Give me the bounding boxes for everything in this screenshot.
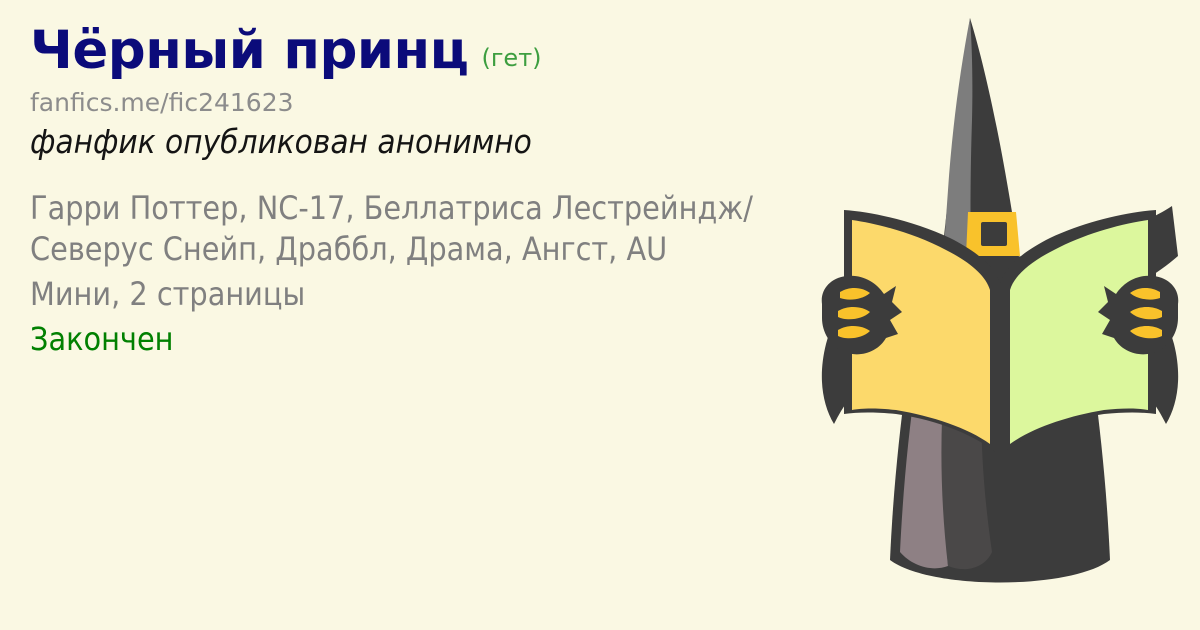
book-right-page-outline [1000, 210, 1156, 456]
left-hand-finger-3 [838, 326, 870, 338]
right-sleeve-group [1126, 268, 1178, 424]
fic-url[interactable]: fanfics.me/fic241623 [30, 89, 830, 117]
book-spine [997, 286, 1003, 460]
hat-brim-shape [844, 206, 1178, 314]
hat-cone-highlight [942, 18, 972, 282]
left-hand-finger-1 [840, 288, 870, 300]
page-title: Чёрный принц [30, 22, 468, 79]
open-book-group [844, 210, 1156, 460]
book-left-page-outline [844, 210, 1000, 456]
book-right-page [1010, 220, 1148, 444]
robe-body-group [890, 300, 1110, 583]
right-hand-finger-2 [1130, 307, 1162, 319]
genre-tag: (гет) [481, 46, 541, 70]
hat-brim-group [844, 206, 1178, 314]
title-row: Чёрный принц (гет) [30, 22, 830, 79]
fic-preview-card: Чёрный принц (гет) fanfics.me/fic241623 … [0, 0, 1200, 630]
wizard-reading-book-illustration [800, 0, 1200, 630]
book-left-page [852, 220, 990, 444]
right-sleeve-shape [1126, 268, 1178, 424]
right-hand-finger-1 [1130, 288, 1160, 300]
status-badge: Закончен [30, 319, 830, 360]
author-line: фанфик опубликован анонимно [30, 123, 830, 162]
right-hand-shape [1098, 276, 1178, 355]
left-hand-shape [822, 276, 902, 355]
right-hand-group [1098, 276, 1178, 355]
robe-body-shape [890, 300, 1110, 583]
right-hand-finger-3 [1130, 326, 1162, 338]
fic-tags: Гарри Поттер, NC-17, Беллатриса Лестрейн… [30, 188, 825, 270]
hat-buckle [966, 212, 1020, 256]
fic-meta-block: Гарри Поттер, NC-17, Беллатриса Лестрейн… [30, 188, 830, 360]
robe-body-highlight [900, 330, 958, 568]
hat-buckle-hole [981, 222, 1007, 246]
robe-body-midtone [941, 322, 992, 569]
hat-cone-shape [940, 18, 1022, 282]
left-hand-group [822, 276, 902, 355]
left-hand-finger-2 [838, 307, 870, 319]
fic-info-column: Чёрный принц (гет) fanfics.me/fic241623 … [30, 22, 830, 359]
wizard-hat-group [940, 18, 1022, 282]
fic-size: Мини, 2 страницы [30, 274, 830, 315]
